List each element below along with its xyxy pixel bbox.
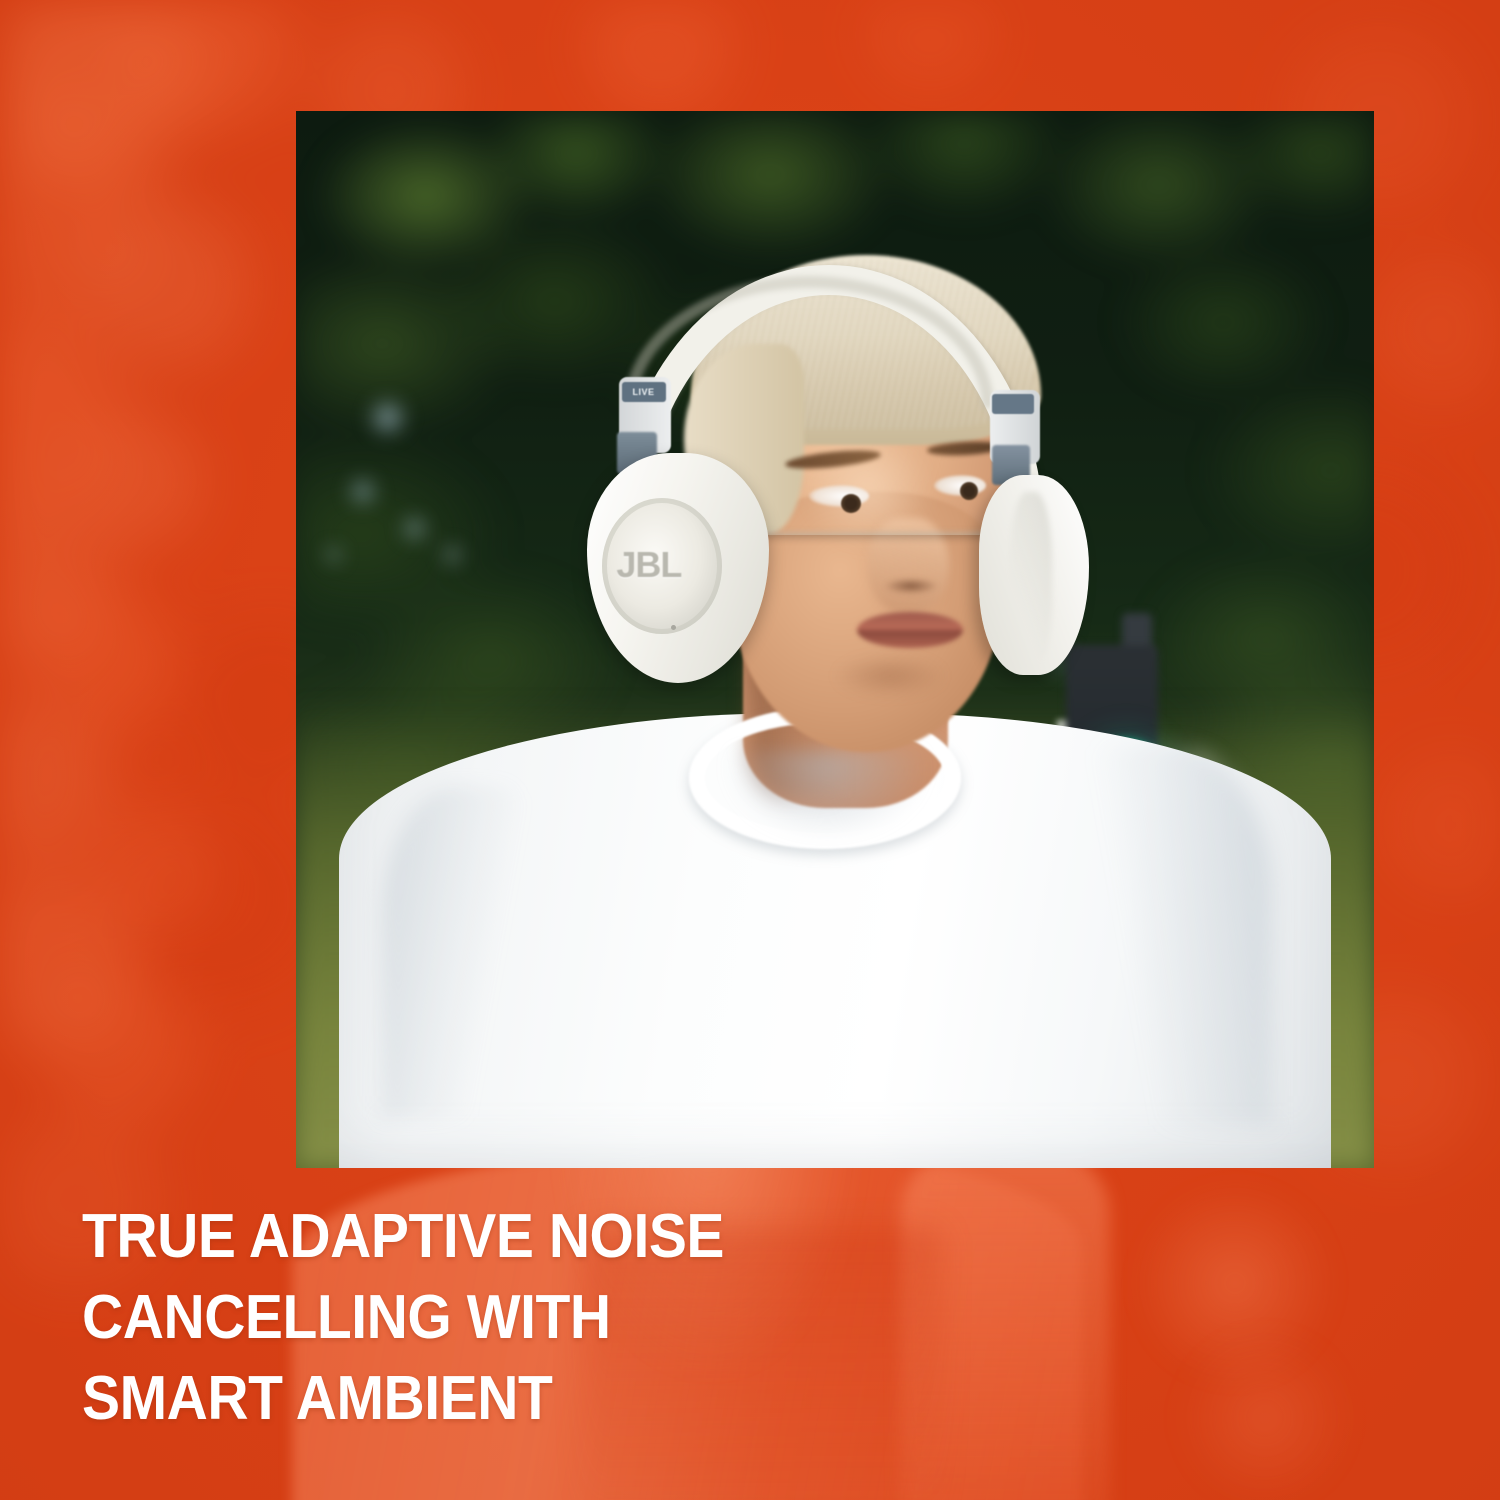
headphone-series-tag-right [992, 394, 1034, 414]
chin-shadow [835, 655, 945, 697]
page-title: TRUE ADAPTIVE NOISE CANCELLING WITH SMAR… [82, 1196, 1057, 1439]
photo-subject: LIVE JBL [296, 111, 1374, 1168]
tshirt-fold-right [1072, 745, 1272, 1125]
ghost-blob-right [1175, 1328, 1355, 1500]
headline-line-2: CANCELLING WITH [82, 1277, 1057, 1358]
earcup-edge-right [1010, 492, 1052, 668]
tshirt-fold-left [382, 787, 532, 1117]
jbl-logo-icon: JBL [612, 540, 686, 590]
earcup-mic-dot [671, 625, 676, 630]
product-photo: LIVE JBL [296, 111, 1374, 1168]
headphone-series-tag: LIVE [622, 382, 666, 402]
collar-shadow [727, 750, 927, 838]
headline-line-3: SMART AMBIENT [82, 1358, 1057, 1439]
nostril [884, 578, 938, 594]
product-feature-banner: LIVE JBL TRUE ADAPTIVE NOISE CANCELLING … [0, 0, 1500, 1500]
headline-line-1: TRUE ADAPTIVE NOISE [82, 1196, 1057, 1277]
lips [857, 612, 963, 648]
